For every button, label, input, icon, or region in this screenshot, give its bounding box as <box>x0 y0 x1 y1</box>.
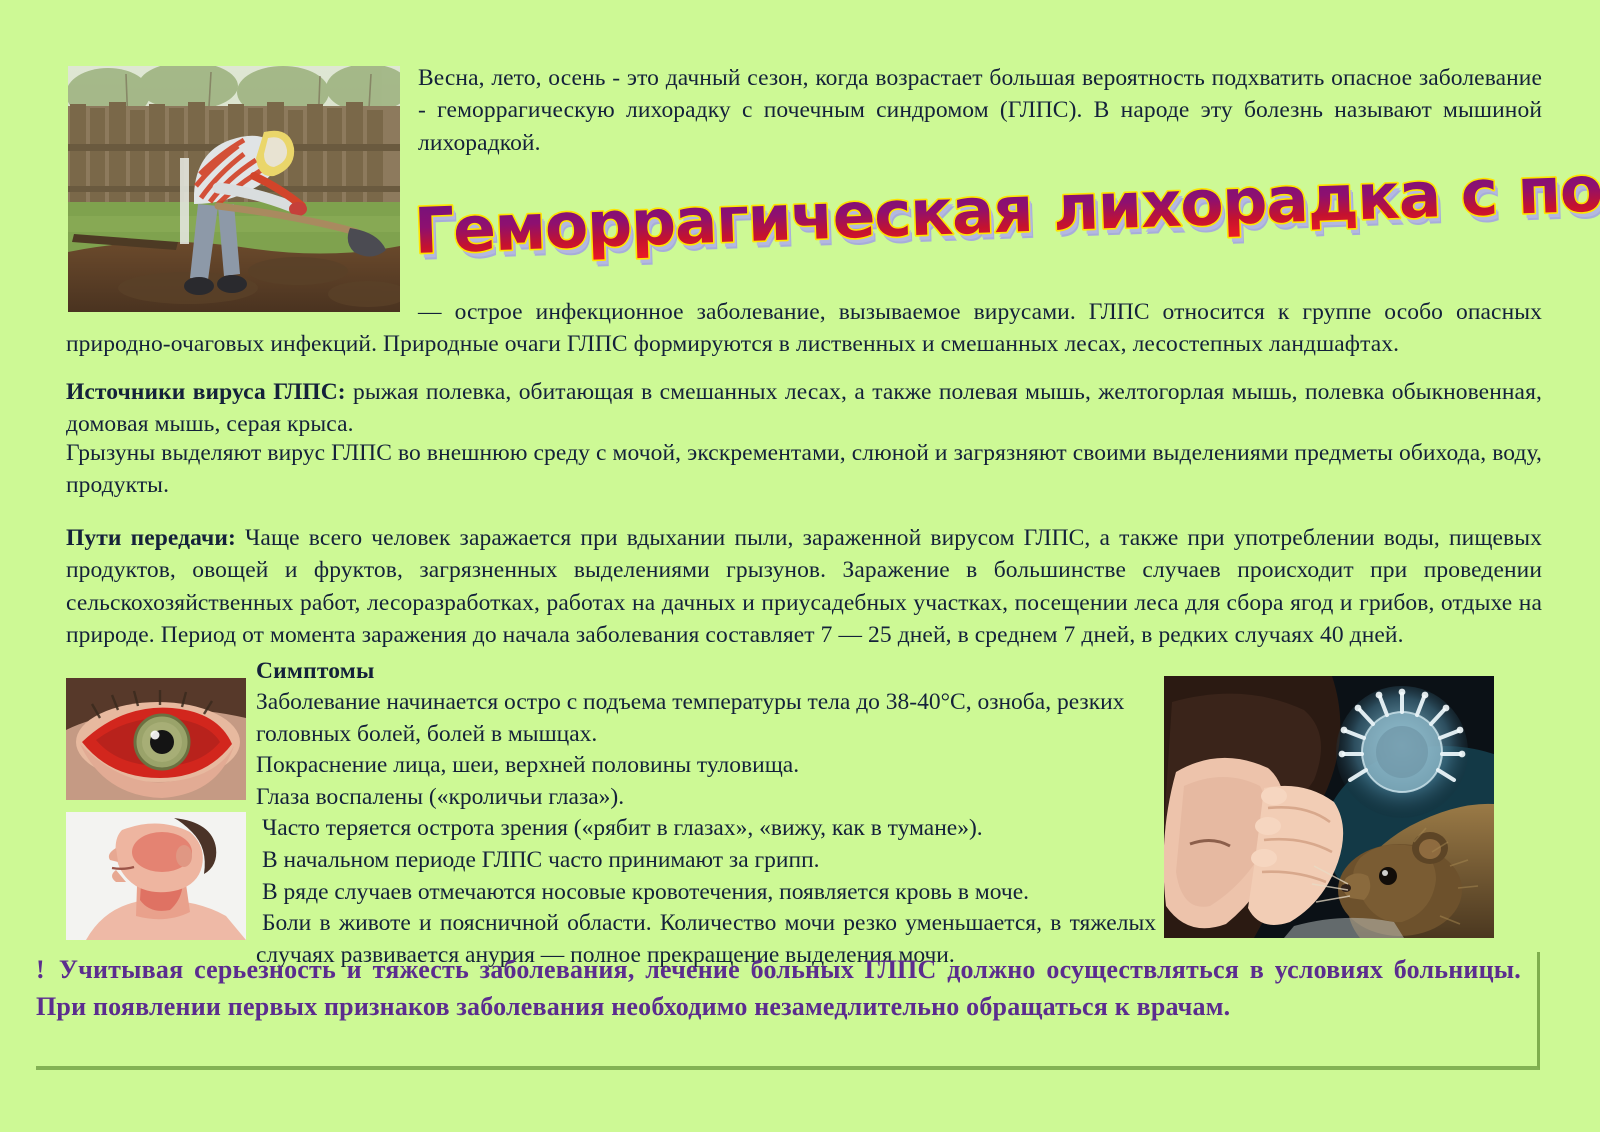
transmission-label: Пути передачи: <box>66 525 236 551</box>
photo-headache-virus-vole <box>1164 676 1494 938</box>
symptom-item: Покраснение лица, шеи, верхней половины … <box>256 750 1156 782</box>
warning-box: !Учитывая серьезность и тяжесть заболева… <box>36 952 1540 1070</box>
photo-inflamed-eye <box>66 678 246 800</box>
excretion-paragraph: Грызуны выделяют вирус ГЛПС во внешнюю с… <box>66 437 1542 502</box>
symptom-item: Глаза воспалены («кроличьи глаза»). <box>256 782 1156 814</box>
symptom-item: Заболевание начинается остро с подъема т… <box>256 687 1156 750</box>
photo-garden-digging <box>68 66 400 312</box>
symptom-item: В начальном периоде ГЛПС часто принимают… <box>256 845 1156 877</box>
warning-text: Учитывая серьезность и тяжесть заболеван… <box>36 955 1521 1021</box>
transmission-text: Чаще всего человек заражается при вдыхан… <box>66 525 1542 648</box>
photo-facial-flushing <box>66 812 246 940</box>
exclamation-mark: ! <box>36 955 45 984</box>
poster-root: Весна, лето, осень - это дачный сезон, к… <box>0 0 1600 1132</box>
sources-paragraph: Источники вируса ГЛПС: рыжая полевка, об… <box>66 376 1542 441</box>
symptom-item: В ряде случаев отмечаются носовые кровот… <box>256 877 1156 909</box>
symptoms-block: Симптомы Заболевание начинается остро с … <box>256 658 1156 971</box>
definition-paragraph: — острое инфекционное заболевание, вызыв… <box>66 296 1542 361</box>
warning-paragraph: !Учитывая серьезность и тяжесть заболева… <box>36 952 1537 1026</box>
symptom-item: Часто теряется острота зрения («рябит в … <box>256 813 1156 845</box>
transmission-paragraph: Пути передачи: Чаще всего человек заража… <box>66 522 1542 652</box>
intro-paragraph: Весна, лето, осень - это дачный сезон, к… <box>418 62 1542 159</box>
symptoms-heading: Симптомы <box>256 658 1156 685</box>
sources-label: Источники вируса ГЛПС: <box>66 379 346 405</box>
